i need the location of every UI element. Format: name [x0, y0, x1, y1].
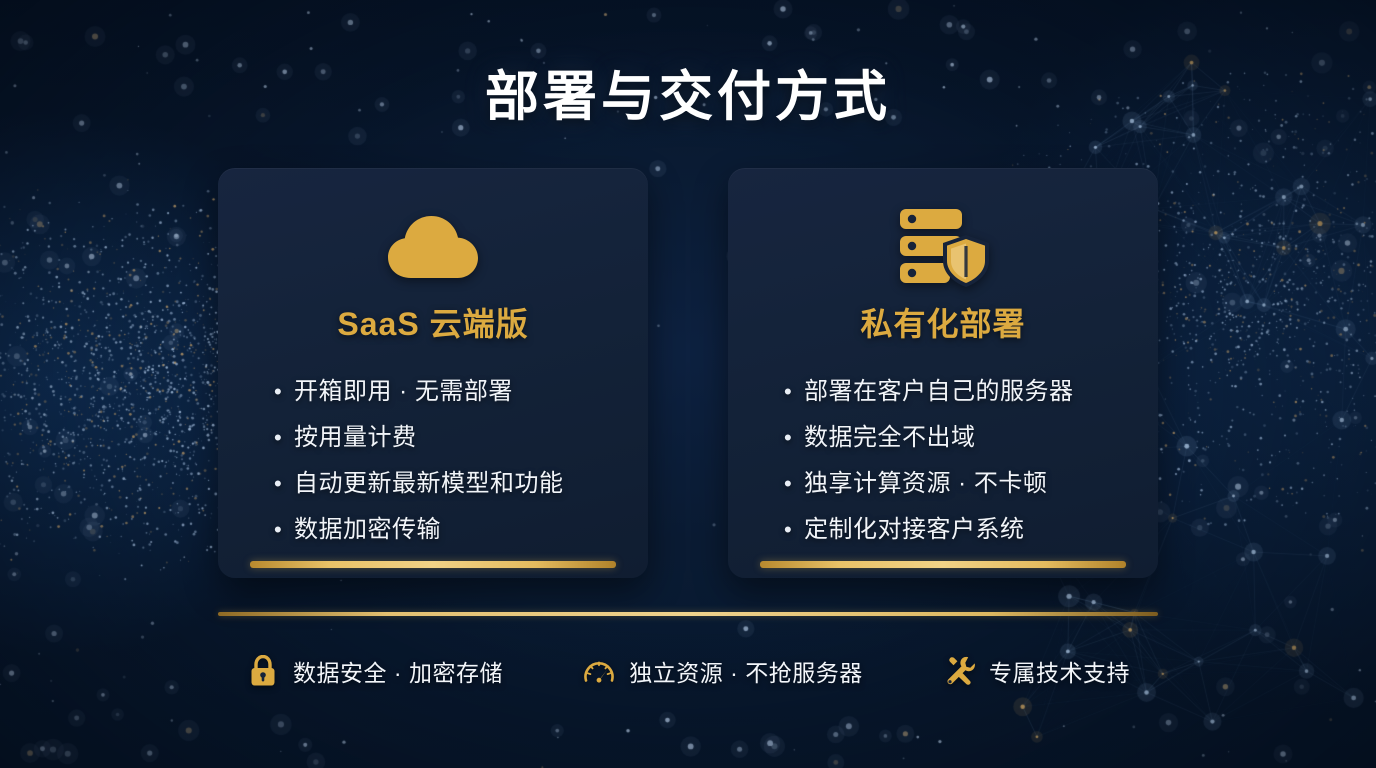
card-title-private: 私有化部署 [728, 299, 1158, 345]
footer-label: 专属技术支持 [989, 654, 1130, 688]
list-item: • 数据完全不出域 [784, 415, 1158, 461]
lock-icon [246, 654, 280, 688]
footer-label: 独立资源 · 不抢服务器 [629, 654, 862, 688]
list-item: • 部署在客户自己的服务器 [784, 369, 1158, 415]
tools-icon [942, 654, 976, 688]
card-saas[interactable]: SaaS 云端版 • 开箱即用 · 无需部署 • 按用量计费 • 自动更新最新模… [218, 168, 648, 578]
bullet-text: 部署在客户自己的服务器 [804, 369, 1158, 415]
card-title-saas: SaaS 云端版 [218, 299, 648, 345]
bullet-marker: • [784, 369, 804, 415]
footer-highlights: 数据安全 · 加密存储 独立资源 · 不抢服务器 [218, 640, 1158, 702]
footer-item-support[interactable]: 专属技术支持 [942, 654, 1130, 688]
bullet-text: 开箱即用 · 无需部署 [294, 369, 648, 415]
card-accent-bar [760, 561, 1126, 568]
bullet-text: 独享计算资源 · 不卡顿 [804, 461, 1158, 507]
bullet-marker: • [784, 415, 804, 461]
cloud-icon [218, 201, 648, 293]
footer-item-resources[interactable]: 独立资源 · 不抢服务器 [582, 654, 862, 688]
slide-content: 部署与交付方式 SaaS 云端版 • 开箱即用 · 无需部署 • 按用量计费 •… [0, 0, 1376, 768]
bullet-marker: • [274, 415, 294, 461]
bullet-marker: • [274, 507, 294, 553]
bullet-marker: • [784, 507, 804, 553]
bullet-marker: • [274, 369, 294, 415]
server-shield-icon [728, 201, 1158, 293]
list-item: • 数据加密传输 [274, 507, 648, 553]
footer-item-security[interactable]: 数据安全 · 加密存储 [246, 654, 503, 688]
bullet-text: 数据完全不出域 [804, 415, 1158, 461]
page-title: 部署与交付方式 [0, 52, 1376, 131]
bullet-text: 按用量计费 [294, 415, 648, 461]
list-item: • 独享计算资源 · 不卡顿 [784, 461, 1158, 507]
footer-label: 数据安全 · 加密存储 [293, 654, 503, 688]
bullet-text: 数据加密传输 [294, 507, 648, 553]
card-private-deployment[interactable]: 私有化部署 • 部署在客户自己的服务器 • 数据完全不出域 • 独享计算资源 ·… [728, 168, 1158, 578]
card-accent-bar [250, 561, 616, 568]
bullet-marker: • [784, 461, 804, 507]
list-item: • 定制化对接客户系统 [784, 507, 1158, 553]
bullet-list-saas: • 开箱即用 · 无需部署 • 按用量计费 • 自动更新最新模型和功能 • 数据… [218, 369, 648, 553]
bullet-text: 自动更新最新模型和功能 [294, 461, 648, 507]
bullet-text: 定制化对接客户系统 [804, 507, 1158, 553]
list-item: • 开箱即用 · 无需部署 [274, 369, 648, 415]
list-item: • 自动更新最新模型和功能 [274, 461, 648, 507]
bullet-marker: • [274, 461, 294, 507]
bullet-list-private: • 部署在客户自己的服务器 • 数据完全不出域 • 独享计算资源 · 不卡顿 •… [728, 369, 1158, 553]
list-item: • 按用量计费 [274, 415, 648, 461]
gauge-icon [582, 654, 616, 688]
gold-divider [218, 612, 1158, 616]
